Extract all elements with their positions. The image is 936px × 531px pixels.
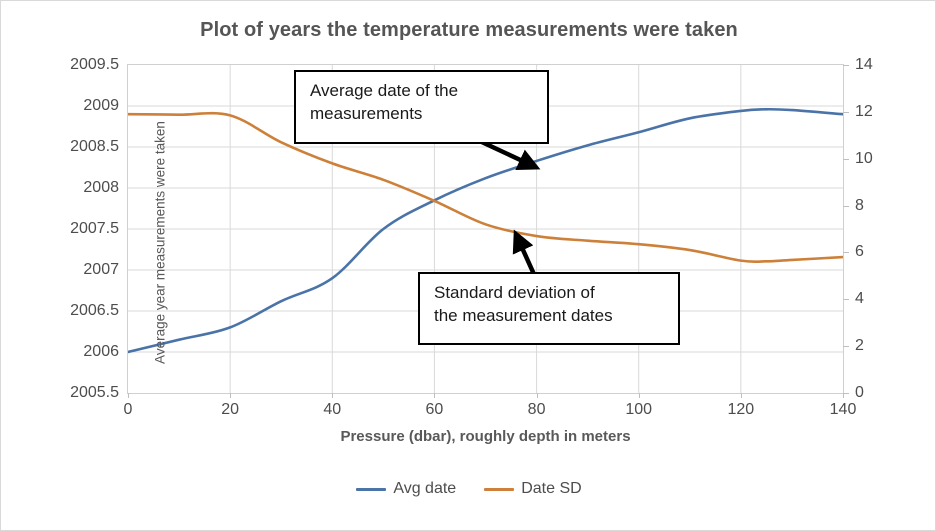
y-axis-left-tick-label: 2009 (83, 97, 119, 115)
chart-container: Plot of years the temperature measuremen… (0, 0, 936, 531)
y-axis-left-tick-label: 2007 (83, 261, 119, 279)
x-axis-tick-mark (128, 393, 129, 398)
x-axis-tick-label: 140 (830, 401, 857, 419)
sd-callout-line-2: the measurement dates (434, 305, 666, 328)
y-axis-right-tick-mark (843, 252, 849, 253)
avg-date-callout-line-2: measurements (310, 103, 535, 126)
legend-swatch-icon (484, 488, 514, 491)
y-axis-left-tick-label: 2007.5 (70, 220, 119, 238)
y-axis-right-tick-label: 6 (855, 243, 864, 261)
y-axis-left-tick-label: 2005.5 (70, 384, 119, 402)
legend-entry-avg-date[interactable]: Avg date (356, 480, 456, 498)
y-axis-left-tick-label: 2006 (83, 343, 119, 361)
x-axis-title: Pressure (dbar), roughly depth in meters (127, 428, 844, 445)
chart-legend: Avg dateDate SD (1, 480, 936, 498)
x-axis-tick-label: 40 (323, 401, 341, 419)
y-axis-right-tick-mark (843, 299, 849, 300)
sd-callout-line-1: Standard deviation of (434, 282, 666, 305)
x-axis-tick-mark (230, 393, 231, 398)
avg-date-callout-line-1: Average date of the (310, 80, 535, 103)
y-axis-right-tick-label: 4 (855, 290, 864, 308)
y-axis-right-tick-mark (843, 65, 849, 66)
chart-title: Plot of years the temperature measuremen… (1, 19, 936, 42)
x-axis-tick-label: 60 (426, 401, 444, 419)
y-axis-right-tick-label: 8 (855, 197, 864, 215)
y-axis-right-tick-mark (843, 112, 849, 113)
x-axis-tick-label: 80 (528, 401, 546, 419)
sd-callout: Standard deviation of the measurement da… (418, 272, 680, 345)
y-axis-left-tick-label: 2008.5 (70, 138, 119, 156)
x-axis-tick-mark (434, 393, 435, 398)
y-axis-right-tick-mark (843, 346, 849, 347)
y-axis-right-tick-label: 2 (855, 337, 864, 355)
x-axis-tick-mark (843, 393, 844, 398)
x-axis-tick-label: 120 (727, 401, 754, 419)
legend-swatch-icon (356, 488, 386, 491)
y-axis-right-tick-mark (843, 159, 849, 160)
x-axis-tick-mark (332, 393, 333, 398)
y-axis-right-tick-label: 14 (855, 56, 873, 74)
x-axis-tick-mark (741, 393, 742, 398)
y-axis-right-tick-label: 0 (855, 384, 864, 402)
x-axis-tick-label: 20 (221, 401, 239, 419)
y-axis-left-tick-label: 2008 (83, 179, 119, 197)
y-axis-left-title: Average year measurements were taken (153, 83, 168, 403)
x-axis-tick-mark (639, 393, 640, 398)
y-axis-right-tick-label: 10 (855, 150, 873, 168)
x-axis-tick-mark (537, 393, 538, 398)
y-axis-right-tick-label: 12 (855, 103, 873, 121)
y-axis-right-tick-mark (843, 206, 849, 207)
legend-entry-date-sd[interactable]: Date SD (484, 480, 581, 498)
x-axis-tick-label: 100 (625, 401, 652, 419)
avg-date-callout: Average date of the measurements (294, 70, 549, 144)
y-axis-left-tick-label: 2006.5 (70, 302, 119, 320)
x-axis-tick-label: 0 (124, 401, 133, 419)
legend-label: Date SD (521, 480, 581, 498)
y-axis-left-tick-label: 2009.5 (70, 56, 119, 74)
legend-label: Avg date (393, 480, 456, 498)
